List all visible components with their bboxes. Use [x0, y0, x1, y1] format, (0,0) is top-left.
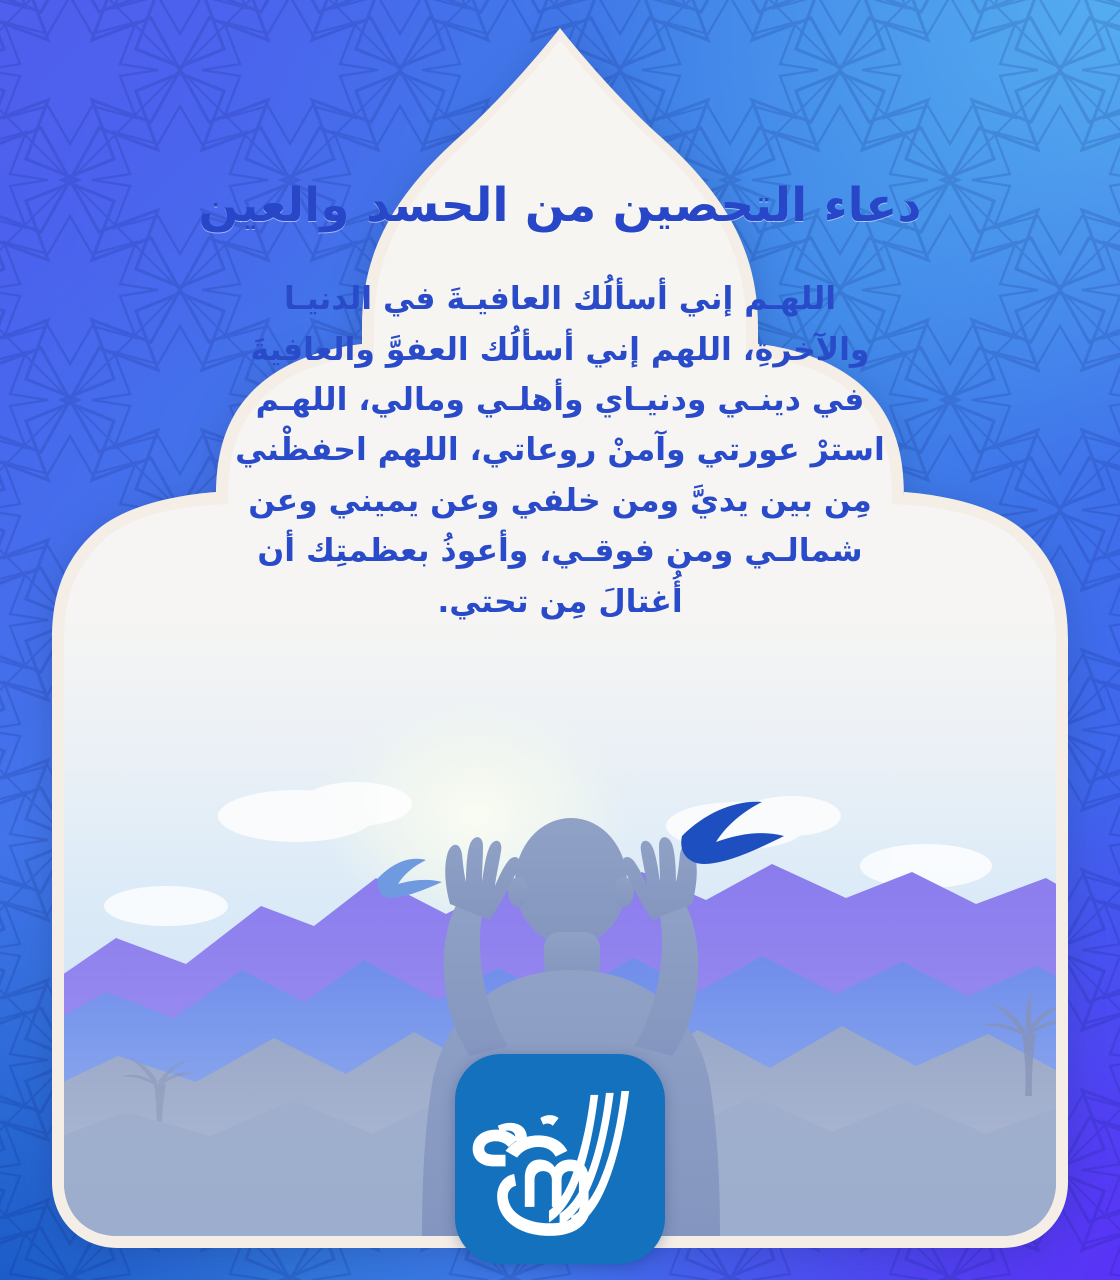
dua-line-1: اللهـم إني أسألُك العافيـةَ في الدنيـا	[120, 274, 1000, 324]
dua-line-6: شمالـي ومن فوقـي، وأعوذُ بعظمتِك أن	[120, 526, 1000, 576]
dua-line-4: استرْ عورتي وآمنْ روعاتي، اللهم احفظْني	[120, 425, 1000, 475]
page-title: دعاء التحصين من الحسد والعين	[108, 176, 1012, 236]
al-marje-logo[interactable]	[455, 1054, 665, 1264]
al-marje-logo-mark	[463, 1062, 656, 1255]
title-line-2: من الحسد والعين	[199, 178, 597, 233]
dua-line-5: مِن بين يديَّ ومن خلفي وعن يميني وعن	[120, 476, 1000, 526]
dua-line-7: أُغتالَ مِن تحتي.	[120, 577, 1000, 627]
text-block: دعاء التحصين من الحسد والعين اللهـم إني …	[46, 176, 1074, 627]
dua-line-3: في دينـي ودنيـاي وأهلـي ومالي، اللهـم	[120, 375, 1000, 425]
dua-text: اللهـم إني أسألُك العافيـةَ في الدنيـا و…	[108, 274, 1012, 627]
title-line-1: دعاء التحصين	[613, 178, 922, 233]
mihrab-card: دعاء التحصين من الحسد والعين اللهـم إني …	[46, 26, 1074, 1252]
dua-line-2: والآخرةِ، اللهم إني أسألُك العفوَّ والعا…	[120, 325, 1000, 375]
